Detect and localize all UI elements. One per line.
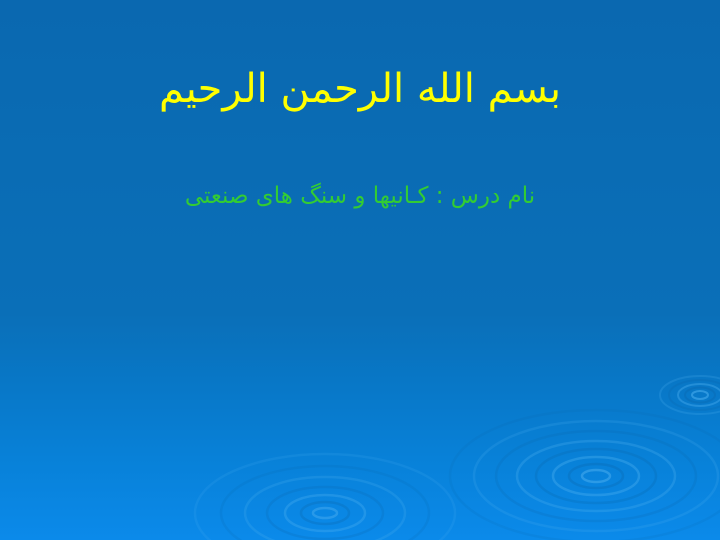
- slide-subtitle: نام درس : کـانیها و سنگ های صنعتی: [0, 180, 720, 212]
- title-slide: بسم الله الرحمن الرحیم نام درس : کـانیها…: [0, 0, 720, 540]
- slide-text-layer: بسم الله الرحمن الرحیم نام درس : کـانیها…: [0, 0, 720, 540]
- slide-title: بسم الله الرحمن الرحیم: [0, 64, 720, 114]
